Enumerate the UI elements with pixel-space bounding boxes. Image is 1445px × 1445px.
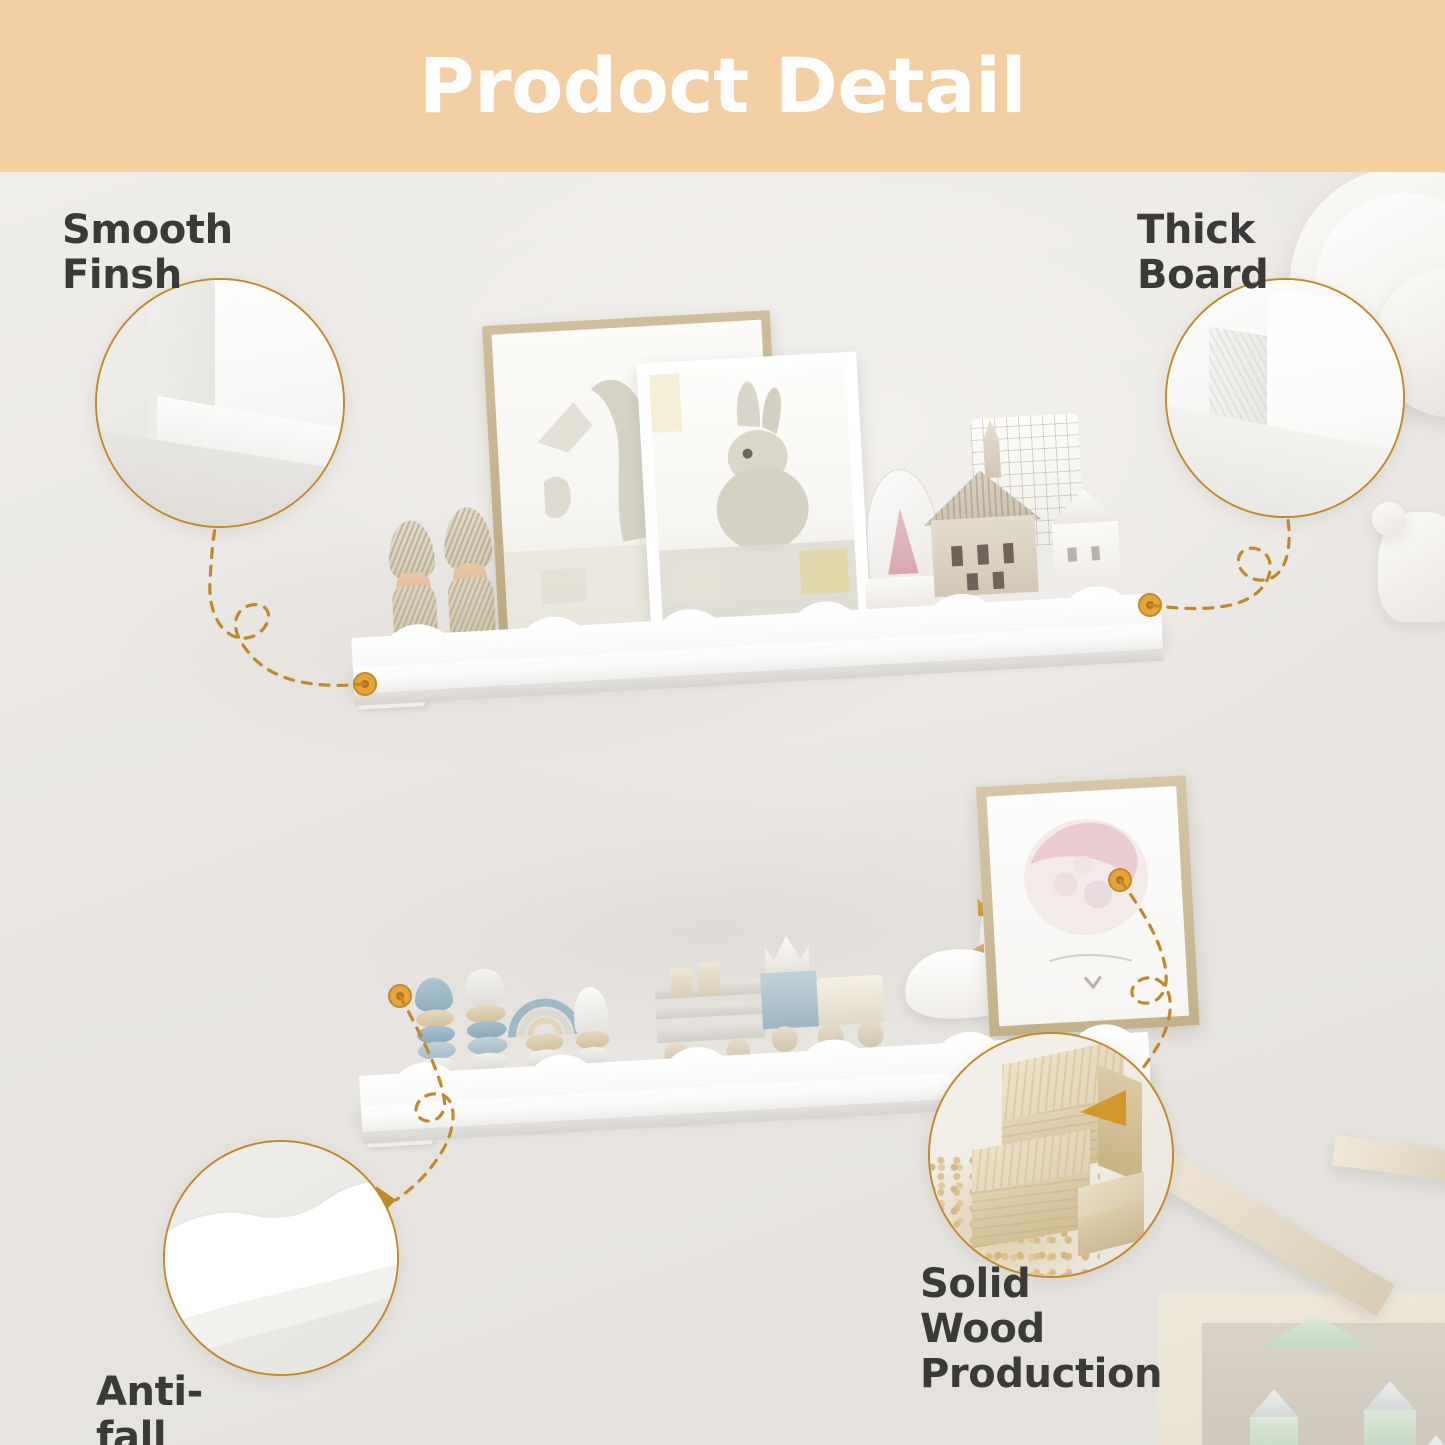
callout-circle-solid-wood bbox=[928, 1032, 1174, 1278]
block-roof bbox=[1248, 1389, 1300, 1419]
small-house-walls bbox=[1052, 521, 1121, 591]
rabbit-art-canvas bbox=[649, 364, 859, 623]
page-title: Prodoct Detail bbox=[419, 48, 1026, 124]
wavy-lip-shape bbox=[165, 1142, 397, 1374]
callout-circle-thick-board bbox=[1165, 278, 1405, 518]
callout-label-thick-board: Thick Board bbox=[1137, 208, 1268, 298]
product-detail-infographic: Smooth Finsh Thick Board bbox=[0, 0, 1445, 1445]
rainbow-stacker bbox=[512, 978, 575, 1037]
toy-block-house-green-large bbox=[1258, 1315, 1374, 1387]
block-roof bbox=[1362, 1381, 1418, 1413]
train-block-blue bbox=[760, 970, 819, 1029]
board-thickness-closeup bbox=[1167, 280, 1403, 516]
crate-slat bbox=[656, 1001, 765, 1019]
small-white-house bbox=[1044, 487, 1127, 591]
toy-block-house-f bbox=[1412, 1435, 1445, 1445]
ceramic-house-window bbox=[977, 545, 989, 565]
dollhouse-roof-right bbox=[1332, 1135, 1445, 1186]
crate-block-a bbox=[670, 967, 694, 998]
header-band: Prodoct Detail bbox=[0, 0, 1445, 172]
ceramic-house-window bbox=[993, 571, 1005, 589]
wooden-dollhouse-bookshelf bbox=[1140, 1117, 1445, 1445]
ceramic-house-window bbox=[1003, 543, 1015, 563]
floral-art-print bbox=[976, 775, 1200, 1036]
wavy-lip-closeup bbox=[165, 1142, 397, 1374]
shelf-corner-closeup bbox=[97, 280, 343, 526]
callout-label-solid-wood: Solid Wood Production bbox=[920, 1262, 1162, 1396]
rabbit-art-print bbox=[636, 351, 871, 635]
block-base bbox=[1250, 1417, 1298, 1445]
toy-block-house-a bbox=[1248, 1389, 1300, 1445]
floral-art-canvas bbox=[986, 786, 1189, 1026]
callout-circle-anti-fall bbox=[163, 1140, 399, 1376]
ceramic-house-window bbox=[967, 573, 979, 591]
small-house-window bbox=[1091, 546, 1100, 560]
rabbit-artwork bbox=[649, 364, 859, 623]
floral-artwork bbox=[986, 786, 1189, 1026]
toy-block-house-b bbox=[1362, 1381, 1418, 1445]
crate-slat bbox=[657, 1021, 766, 1043]
wood-blocks-sawdust-closeup bbox=[930, 1034, 1172, 1276]
callout-circle-smooth-finish bbox=[95, 278, 345, 528]
train-block-cream bbox=[816, 975, 885, 1027]
top-shelf bbox=[349, 547, 1164, 712]
owl-head bbox=[463, 968, 505, 1008]
callout-label-anti-fall: Anti-fall Design bbox=[96, 1370, 249, 1445]
small-house-window bbox=[1068, 547, 1077, 561]
block-base bbox=[1364, 1410, 1416, 1445]
block-roof bbox=[1258, 1315, 1374, 1348]
ceramic-house bbox=[921, 467, 1046, 597]
solid-wood-inner-arrow bbox=[930, 1034, 1172, 1276]
crate-block-b bbox=[697, 962, 721, 997]
block-roof bbox=[1412, 1435, 1445, 1445]
ceramic-house-window bbox=[951, 546, 963, 566]
callout-label-smooth-finish: Smooth Finsh bbox=[62, 208, 233, 298]
stacker-top-cone bbox=[414, 977, 454, 1013]
